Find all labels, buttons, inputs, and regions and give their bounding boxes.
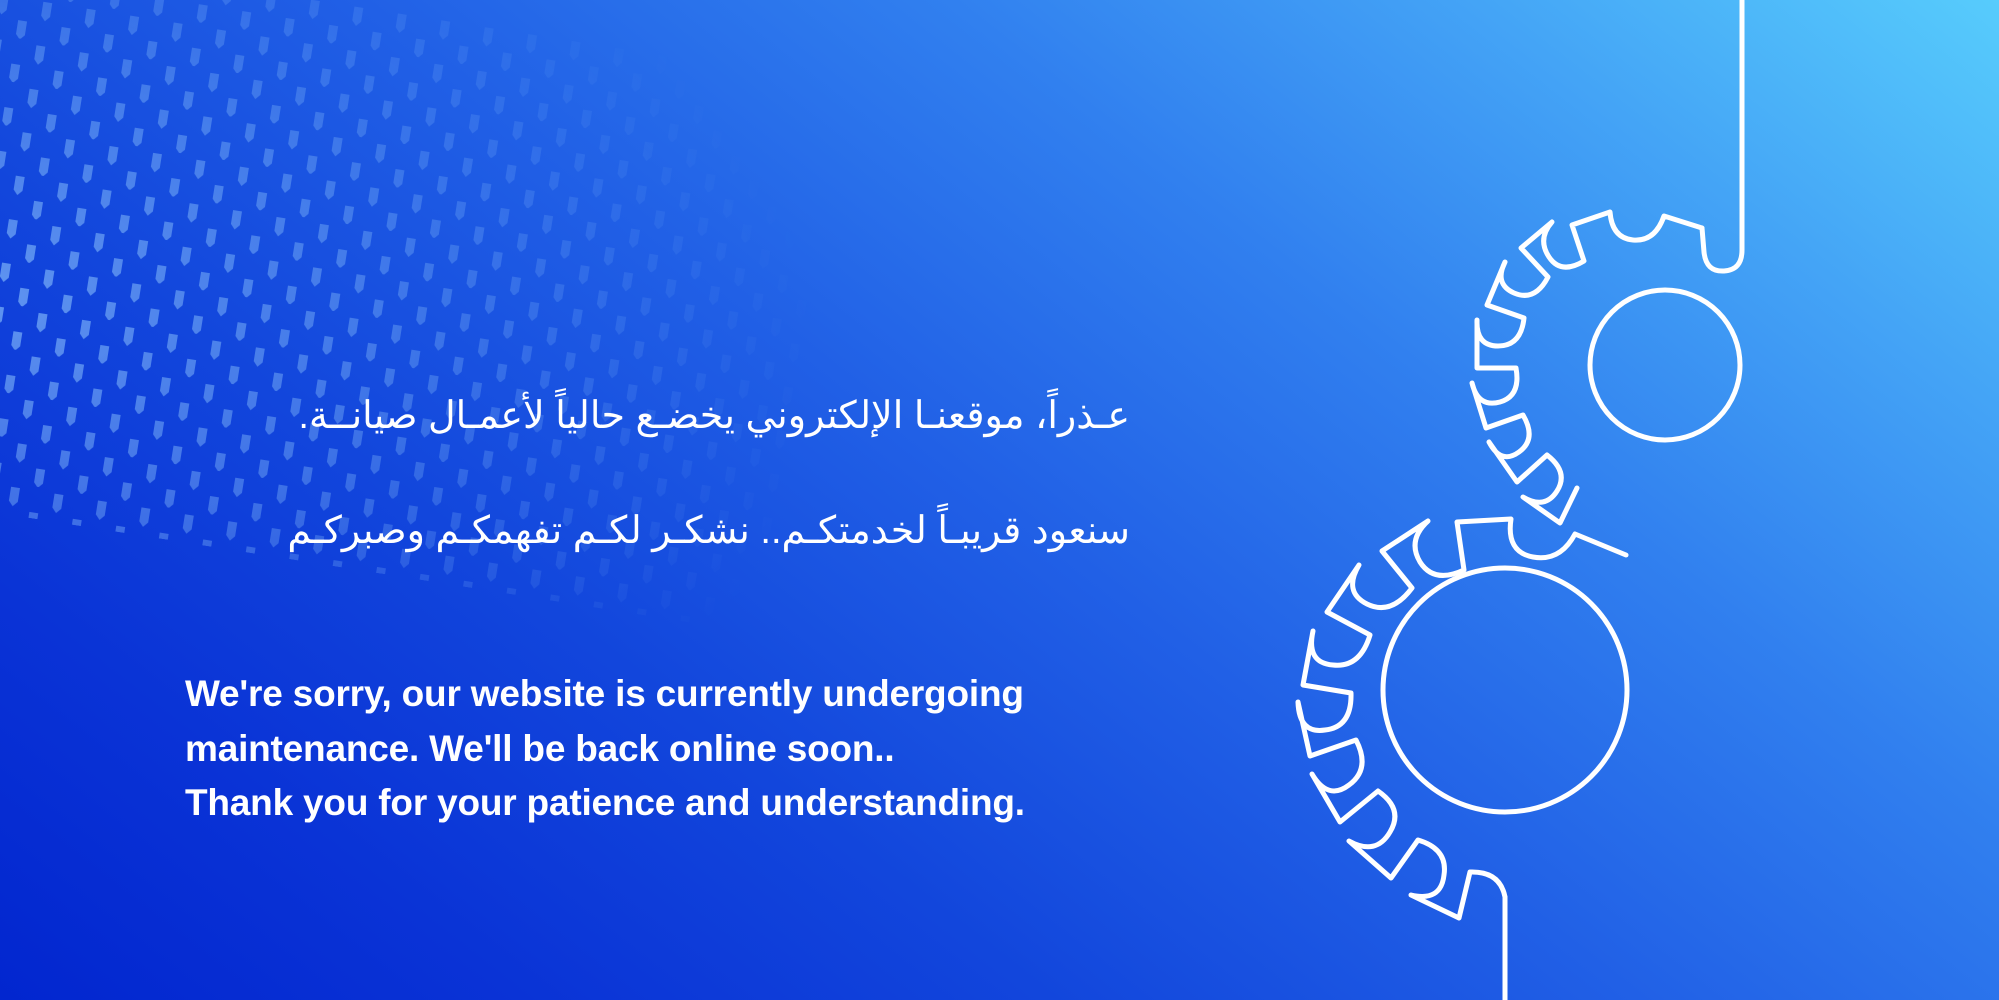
- english-line-1: We're sorry, our website is currently un…: [185, 667, 1185, 722]
- arabic-line-1: عـذراً، موقعنـا الإلكتروني يخضـع حالياً …: [185, 388, 1130, 446]
- gear-small-teeth: [1472, 212, 1702, 523]
- english-line-3: Thank you for your patience and understa…: [185, 776, 1185, 831]
- arabic-line-2: سنعود قريبـاً لخدمتكـم.. نشكـر لكـم تفهم…: [185, 503, 1130, 561]
- gear-large-teeth: [1298, 519, 1626, 1000]
- maintenance-page: عـذراً، موقعنـا الإلكتروني يخضـع حالياً …: [0, 0, 1999, 1000]
- gear-small-hub: [1590, 290, 1740, 440]
- english-line-2: maintenance. We'll be back online soon..: [185, 722, 1185, 777]
- english-message: We're sorry, our website is currently un…: [185, 667, 1185, 831]
- connector-line-top: [1702, 0, 1742, 271]
- maintenance-message: عـذراً، موقعنـا الإلكتروني يخضـع حالياً …: [185, 330, 1185, 831]
- gear-large-hub: [1383, 568, 1627, 812]
- arabic-message: عـذراً، موقعنـا الإلكتروني يخضـع حالياً …: [185, 330, 1130, 619]
